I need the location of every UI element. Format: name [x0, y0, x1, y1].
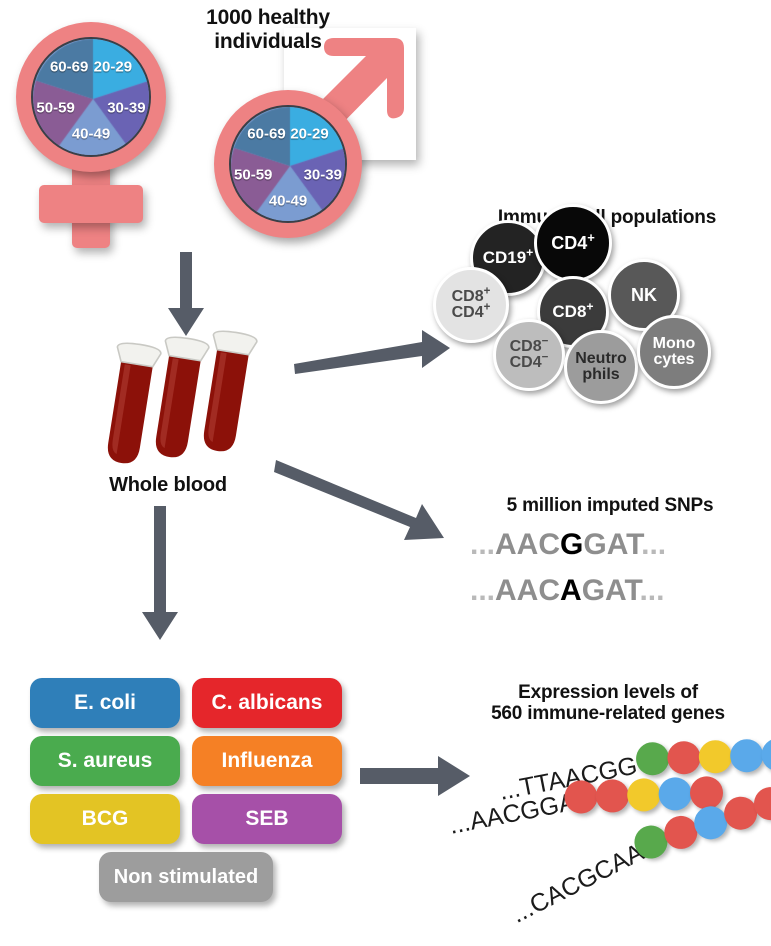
snp-prefix: ... — [470, 528, 495, 561]
snp-left: AAC — [495, 574, 560, 607]
stimulus-influenza[interactable]: Influenza — [192, 736, 342, 786]
stimuli-panel: E. coliC. albicansS. aureusInfluenzaBCGS… — [30, 678, 350, 902]
dna-bead — [624, 776, 663, 815]
immune-cell-label: NK — [631, 286, 657, 304]
immune-cell-label: Neutrophils — [575, 351, 627, 384]
immune-cell-cd8cd4: CD8+CD4+ — [433, 267, 509, 343]
stimulus-bcg[interactable]: BCG — [30, 794, 180, 844]
immune-cell-label: CD8+ — [552, 303, 593, 320]
expression-heading-line1: Expression levels of — [450, 682, 766, 703]
snp-variant: G — [560, 528, 583, 561]
snp-suffix: ... — [641, 528, 666, 561]
dna-bead — [593, 777, 632, 816]
snps-heading: 5 million imputed SNPs — [462, 495, 758, 516]
stimulus-label: S. aureus — [58, 749, 153, 773]
stimulus-label: Non stimulated — [114, 866, 258, 889]
snp-left: AAC — [495, 528, 560, 561]
immune-cell-label: CD4+ — [551, 234, 595, 252]
snp-variant: A — [560, 574, 582, 607]
immune-cell-label: CD8+CD4+ — [452, 289, 491, 322]
snp-right: GAT — [582, 574, 640, 607]
stimulus-label: Influenza — [221, 749, 312, 773]
stimulus-non-stimulated[interactable]: Non stimulated — [99, 852, 273, 902]
immune-cell-cd8cd4: CD8−CD4− — [493, 319, 565, 391]
stimulus-label: BCG — [82, 807, 129, 831]
stimulus-label: SEB — [245, 807, 288, 831]
immune-cell-neutrophils: Neutrophils — [564, 330, 638, 404]
expression-heading: Expression levels of 560 immune-related … — [450, 682, 766, 725]
stimulus-seb[interactable]: SEB — [192, 794, 342, 844]
dna-sequence-text: ...CACGCAA — [507, 838, 649, 929]
snp-sequences: ...AACGGAT......AACAGAT... — [470, 528, 760, 618]
snp-right: GAT — [583, 528, 641, 561]
snp-sequence-1: ...AACGGAT... — [470, 528, 666, 562]
immune-cell-label: CD8−CD4− — [510, 339, 549, 372]
stimulus-label: C. albicans — [212, 691, 323, 715]
stimulus-s--aureus[interactable]: S. aureus — [30, 736, 180, 786]
snp-sequence-2: ...AACAGAT... — [470, 574, 664, 608]
dna-strands: ...TTAACGG...AACGGAT...CACGCAA — [440, 740, 771, 922]
immune-cell-label: CD19+ — [483, 249, 534, 266]
immune-cell-monocytes: Monocytes — [637, 315, 711, 389]
snp-suffix: ... — [639, 574, 664, 607]
immune-cell-cd4: CD4+ — [534, 204, 612, 282]
figure-canvas: 1000 healthy individuals 20-2930-3940-49… — [0, 0, 771, 922]
expression-heading-line2: 560 immune-related genes — [450, 703, 766, 724]
stimulus-c--albicans[interactable]: C. albicans — [192, 678, 342, 728]
snp-prefix: ... — [470, 574, 495, 607]
stimulus-e--coli[interactable]: E. coli — [30, 678, 180, 728]
stimulus-label: E. coli — [74, 691, 136, 715]
immune-cell-label: Monocytes — [653, 336, 696, 369]
